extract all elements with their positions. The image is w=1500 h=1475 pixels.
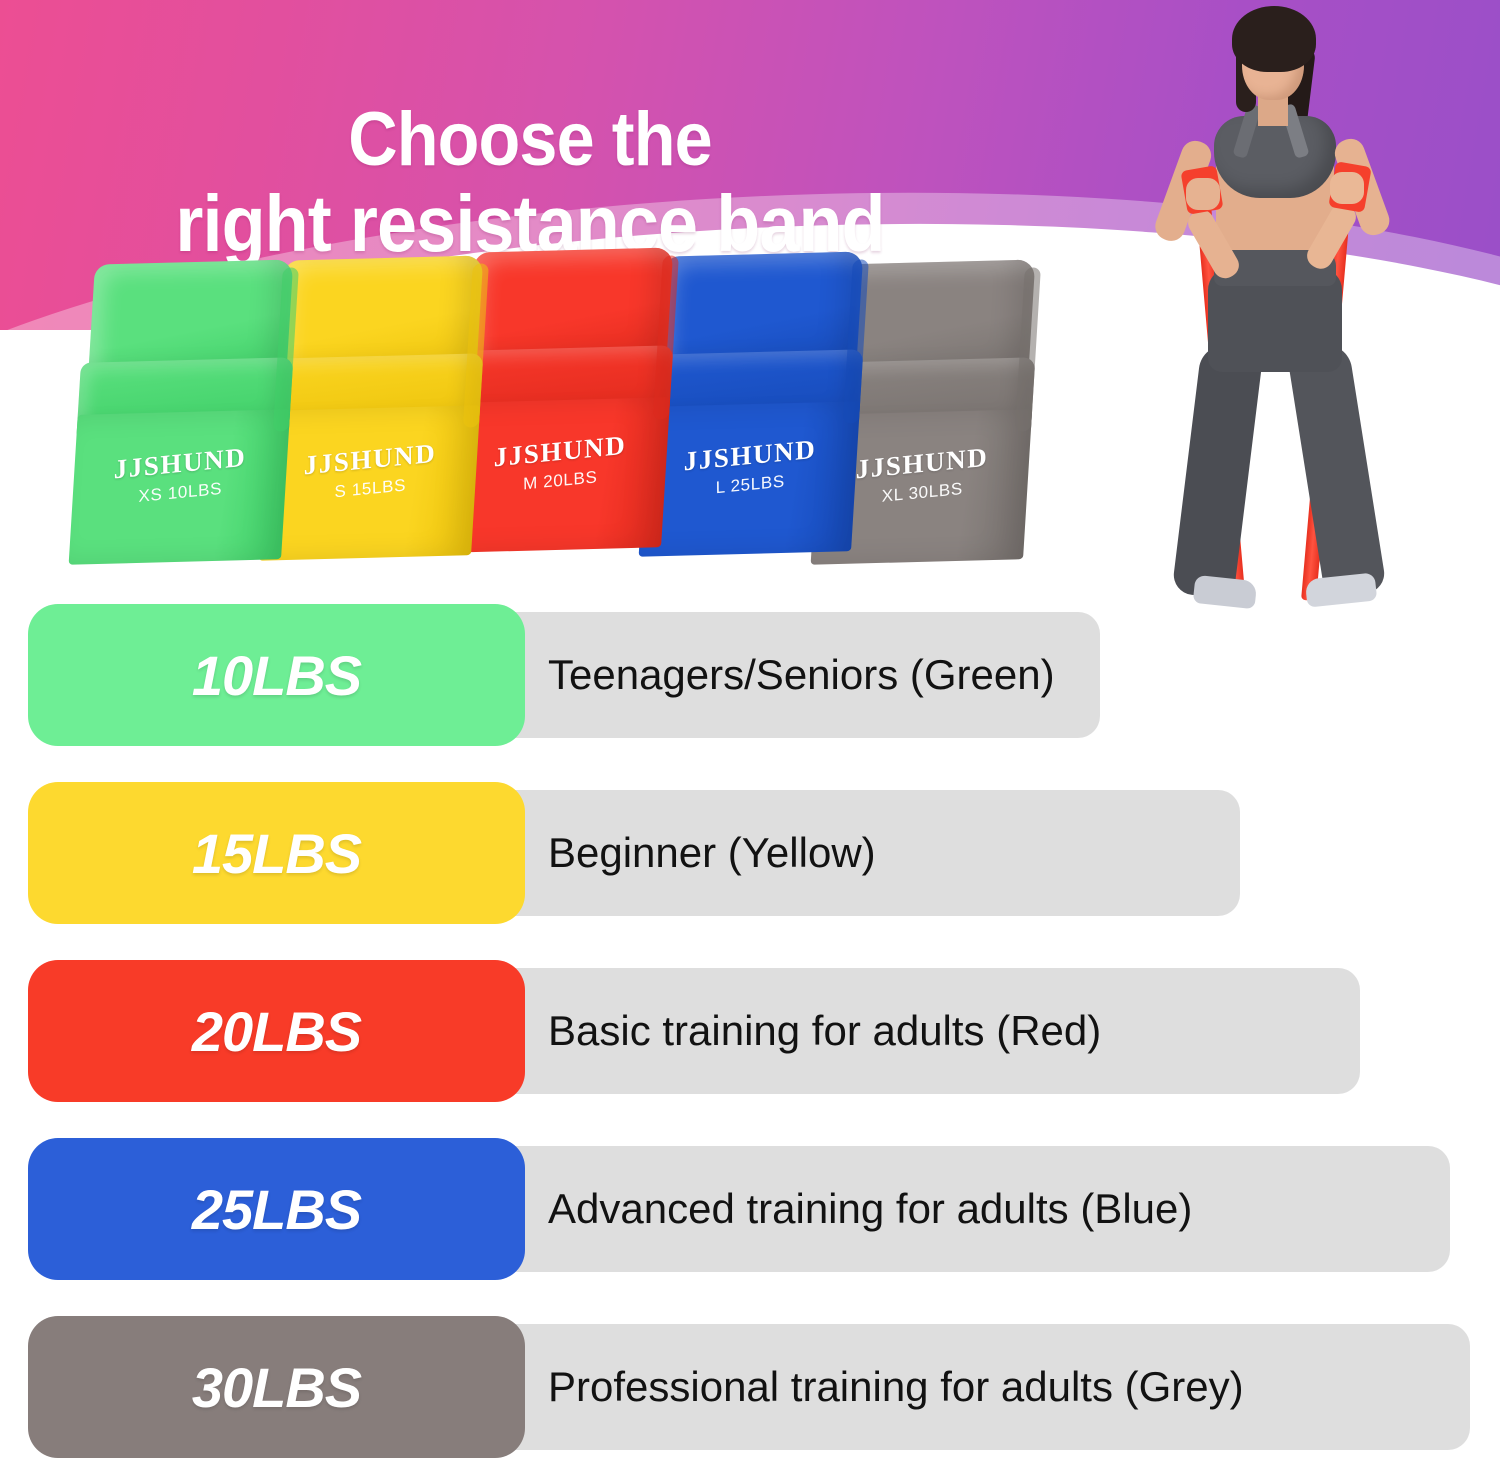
legend-row[interactable]: 30LBSProfessional training for adults (G… [0, 1316, 1500, 1458]
band-sheet [259, 405, 481, 560]
product-band-lineup: JJSHUNDXS 10LBSJJSHUNDS 15LBSJJSHUNDM 20… [0, 240, 1060, 600]
legend-row-description: Teenagers/Seniors (Green) [548, 604, 1055, 746]
weight-pill-label: 10LBS [192, 643, 361, 708]
weight-pill[interactable]: 20LBS [28, 960, 525, 1102]
infographic-page: Choose the right resistance band JJSHUND… [0, 0, 1500, 1475]
weight-pill-label: 15LBS [192, 821, 361, 886]
legend-row[interactable]: 15LBSBeginner (Yellow) [0, 782, 1500, 924]
product-band-xs: JJSHUNDXS 10LBS [69, 259, 302, 564]
legend-row-description: Beginner (Yellow) [548, 782, 876, 924]
weight-pill[interactable]: 25LBS [28, 1138, 525, 1280]
model-leg-right [1286, 341, 1387, 600]
weight-pill-label: 20LBS [192, 999, 361, 1064]
band-sheet [639, 401, 861, 556]
legend-row[interactable]: 25LBSAdvanced training for adults (Blue) [0, 1138, 1500, 1280]
legend-row[interactable]: 20LBSBasic training for adults (Red) [0, 960, 1500, 1102]
weight-pill[interactable]: 15LBS [28, 782, 525, 924]
model-sports-bra [1214, 116, 1336, 198]
model-shoe-right [1305, 572, 1378, 607]
weight-pill[interactable]: 10LBS [28, 604, 525, 746]
model-hair [1232, 6, 1316, 72]
model-photo [1090, 0, 1500, 640]
legend-row-description: Basic training for adults (Red) [548, 960, 1101, 1102]
band-sheet [449, 397, 671, 552]
model-hand-right [1330, 172, 1364, 204]
weight-pill[interactable]: 30LBS [28, 1316, 525, 1458]
legend-row[interactable]: 10LBSTeenagers/Seniors (Green) [0, 604, 1500, 746]
page-title-line1: Choose the [348, 97, 711, 182]
legend-row-description: Advanced training for adults (Blue) [548, 1138, 1192, 1280]
model-hand-left [1186, 178, 1220, 210]
weight-pill-label: 25LBS [192, 1177, 361, 1242]
weight-pill-label: 30LBS [192, 1355, 361, 1420]
model-leg-left [1172, 342, 1264, 600]
resistance-legend-list: 10LBSTeenagers/Seniors (Green)15LBSBegin… [0, 604, 1500, 1475]
band-sheet [69, 409, 291, 564]
legend-row-description: Professional training for adults (Grey) [548, 1316, 1244, 1458]
